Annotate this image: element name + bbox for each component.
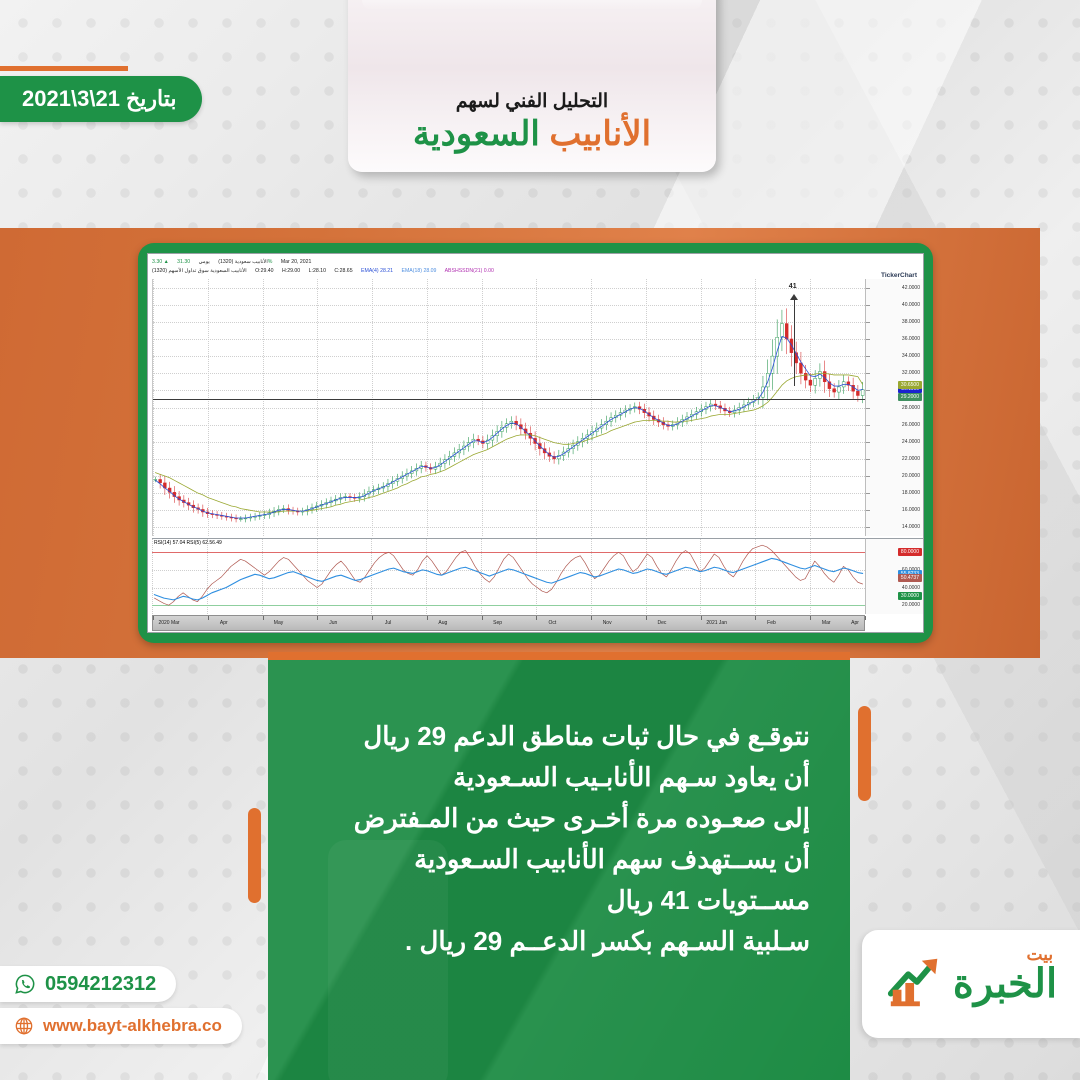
whatsapp-number: 0594212312 [45,973,156,996]
date-tick-label: 2020 Mar [158,620,179,626]
rsi-axis-badge: 80.0000 [898,548,922,556]
ema-fast-value: 28.21 [380,268,393,274]
analysis-line: مســتويات 41 ريال [308,880,810,921]
left-accent-bar [248,808,261,903]
date-badge: بتاريخ 21\3\2021 [0,76,202,122]
price-chart-pane[interactable]: 2941 [152,279,865,536]
rsi2-label: RSI(5) [187,540,201,546]
right-accent-bar [858,706,871,801]
analysis-panel: نتوقـع في حال ثبات مناطق الدعم 29 ريالأن… [268,660,850,1080]
price-tick-mark [866,322,870,323]
date-tick-mark [372,616,373,620]
whatsapp-icon [14,973,36,995]
target-arrow [794,296,795,386]
price-tick-label: 36.0000 [902,336,920,342]
price-axis-badge: 29.2000 [898,393,922,401]
date-tick-label: Oct [548,620,556,626]
rsi-chart-pane[interactable]: RSI(14) 57.04 RSI(5) 62.56.49 [152,538,865,614]
rsi2-value: 62.56.49 [202,540,221,546]
rsi-tick-label: 40.0000 [902,585,920,591]
date-tick-label: 2021 Jan [706,620,727,626]
rsi-label: RSI(14) [154,540,171,546]
logo-word-top: بيت [1027,946,1054,963]
logo-word-main: الخبرة [953,962,1057,1006]
price-tick-label: 26.0000 [902,422,920,428]
date-tick-label: Jul [385,620,391,626]
price-axis: 14.000016.000018.000020.000022.000024.00… [865,279,923,536]
rsi-axis-badge: 30.0000 [898,592,922,600]
rsi-header: RSI(14) 57.04 RSI(5) 62.56.49 [154,540,222,546]
chart-canvas[interactable]: الأنابيب سعودية (1320) يومي 31.30 ▲ 3.30… [147,253,924,633]
price-tick-label: 14.0000 [902,524,920,530]
title-card: التحليل الفني لسهم الأنابيب السعودية [348,0,716,172]
ema-slow-label: EMA(18) [402,268,422,274]
whatsapp-contact-pill[interactable]: 0594212312 [0,966,176,1002]
analysis-text: نتوقـع في حال ثبات مناطق الدعم 29 ريالأن… [268,660,850,962]
support-line [153,399,865,400]
ema-fast-label: EMA(4) [361,268,379,274]
tickerchart-watermark: TickerChart [881,272,917,279]
logo-wordmark: بيت الخبرة [953,964,1057,1004]
brand-logo[interactable]: بيت الخبرة [862,930,1080,1038]
price-tick-label: 34.0000 [902,353,920,359]
title-card-sheen [362,0,702,10]
chart-open: O:29.40 [255,268,273,274]
title-subtitle: التحليل الفني لسهم [456,90,608,113]
green-panel-top-accent [268,652,850,660]
analysis-line: أن يســتهدف سهم الأنابيب السـعودية [308,839,810,880]
chart-header-line-1: الأنابيب سعودية (1320) يومي 31.30 ▲ 3.30… [152,259,919,265]
price-tick-label: 22.0000 [902,456,920,462]
price-axis-badge: 30.6500 [898,381,922,389]
chart-close: C:28.65 [334,268,352,274]
rsi-value: 57.04 [173,540,186,546]
date-tick-label: Nov [603,620,612,626]
date-tick-mark [810,616,811,620]
date-tick-label: May [274,620,283,626]
chart-header-line-2: الأنابيب السعودية سوق تداول الأسهم (1320… [152,268,919,274]
chart-date: Mar 20, 2021 [281,259,312,265]
date-tick-label: Apr [220,620,228,626]
date-tick-mark [208,616,209,620]
price-tick-mark [866,493,870,494]
chart-last-price: 31.30 [177,259,190,265]
date-tick-mark [755,616,756,620]
extra-indicator-label: ABSHSSDN(21) [445,268,483,274]
page-title: الأنابيب السعودية [413,115,651,154]
price-tick-mark [866,390,870,391]
price-tick-mark [866,408,870,409]
date-tick-label: Mar [822,620,831,626]
target-label: 41 [789,283,797,290]
growth-arrow-icon [885,951,947,1018]
price-tick-label: 38.0000 [902,319,920,325]
rsi-axis-badge: 50.4737 [898,574,922,582]
chart-low: L:28.10 [309,268,326,274]
date-tick-mark [153,616,154,620]
header-accent-line [0,66,128,71]
analysis-line: سـلبية السـهم بكسر الدعــم 29 ريال . [308,921,810,962]
price-tick-label: 42.0000 [902,285,920,291]
chart-symbol-long: الأنابيب السعودية سوق تداول الأسهم (1320… [152,268,247,274]
website-contact-pill[interactable]: www.bayt-alkhebra.co [0,1008,242,1044]
chart-frame: الأنابيب سعودية (1320) يومي 31.30 ▲ 3.30… [138,243,933,643]
date-tick-mark [701,616,702,620]
analysis-line: نتوقـع في حال ثبات مناطق الدعم 29 ريال [308,716,810,757]
date-tick-label: Feb [767,620,776,626]
triangle-up-icon: ▲ [164,259,169,265]
price-tick-mark [866,305,870,306]
ema-slow-value: 28.09 [423,268,436,274]
price-tick-label: 18.0000 [902,490,920,496]
price-tick-mark [866,442,870,443]
date-tick-mark [317,616,318,620]
date-tick-mark [427,616,428,620]
website-url: www.bayt-alkhebra.co [43,1016,222,1036]
price-series-svg [153,279,865,536]
price-tick-mark [866,510,870,511]
extra-indicator-value: 0.00 [484,268,494,274]
price-tick-mark [866,459,870,460]
date-tick-mark [263,616,264,620]
chart-high: H:29.00 [282,268,300,274]
title-green-part: السعودية [413,115,540,153]
price-tick-mark [866,356,870,357]
date-tick-mark [591,616,592,620]
date-tick-label: Jun [329,620,337,626]
chart-interval: يومي [199,259,210,265]
price-tick-mark [866,288,870,289]
title-orange-part: الأنابيب [549,115,651,153]
analysis-line: أن يعاود سـهم الأنابـيب السـعودية [308,757,810,798]
date-tick-label: Aug [438,620,447,626]
date-axis: 2020 MarAprMayJunJulAugSepOctNovDec2021 … [152,615,865,631]
price-tick-mark [866,373,870,374]
date-tick-mark [865,616,866,620]
date-tick-mark [536,616,537,620]
price-tick-mark [866,476,870,477]
date-tick-label: Dec [657,620,666,626]
date-tick-mark [646,616,647,620]
price-tick-label: 16.0000 [902,507,920,513]
price-tick-mark [866,527,870,528]
date-tick-label: Apr [851,620,859,626]
price-tick-mark [866,425,870,426]
price-tick-label: 20.0000 [902,473,920,479]
rsi-axis: 20.000040.000060.000080.000080.000055.82… [865,538,923,614]
analysis-line: إلى صعـوده مرة أخـرى حيث من المـفترض [308,798,810,839]
date-tick-mark [482,616,483,620]
price-tick-label: 28.0000 [902,405,920,411]
chart-symbol: الأنابيب سعودية (1320) [218,259,267,265]
rsi-tick-label: 20.0000 [902,602,920,608]
price-tick-label: 40.0000 [902,302,920,308]
price-tick-mark [866,339,870,340]
globe-icon [14,1016,34,1036]
rsi-series-svg [152,539,865,614]
date-tick-label: Sep [493,620,502,626]
price-tick-label: 24.0000 [902,439,920,445]
price-tick-label: 32.0000 [902,370,920,376]
target-arrowhead [790,294,798,300]
